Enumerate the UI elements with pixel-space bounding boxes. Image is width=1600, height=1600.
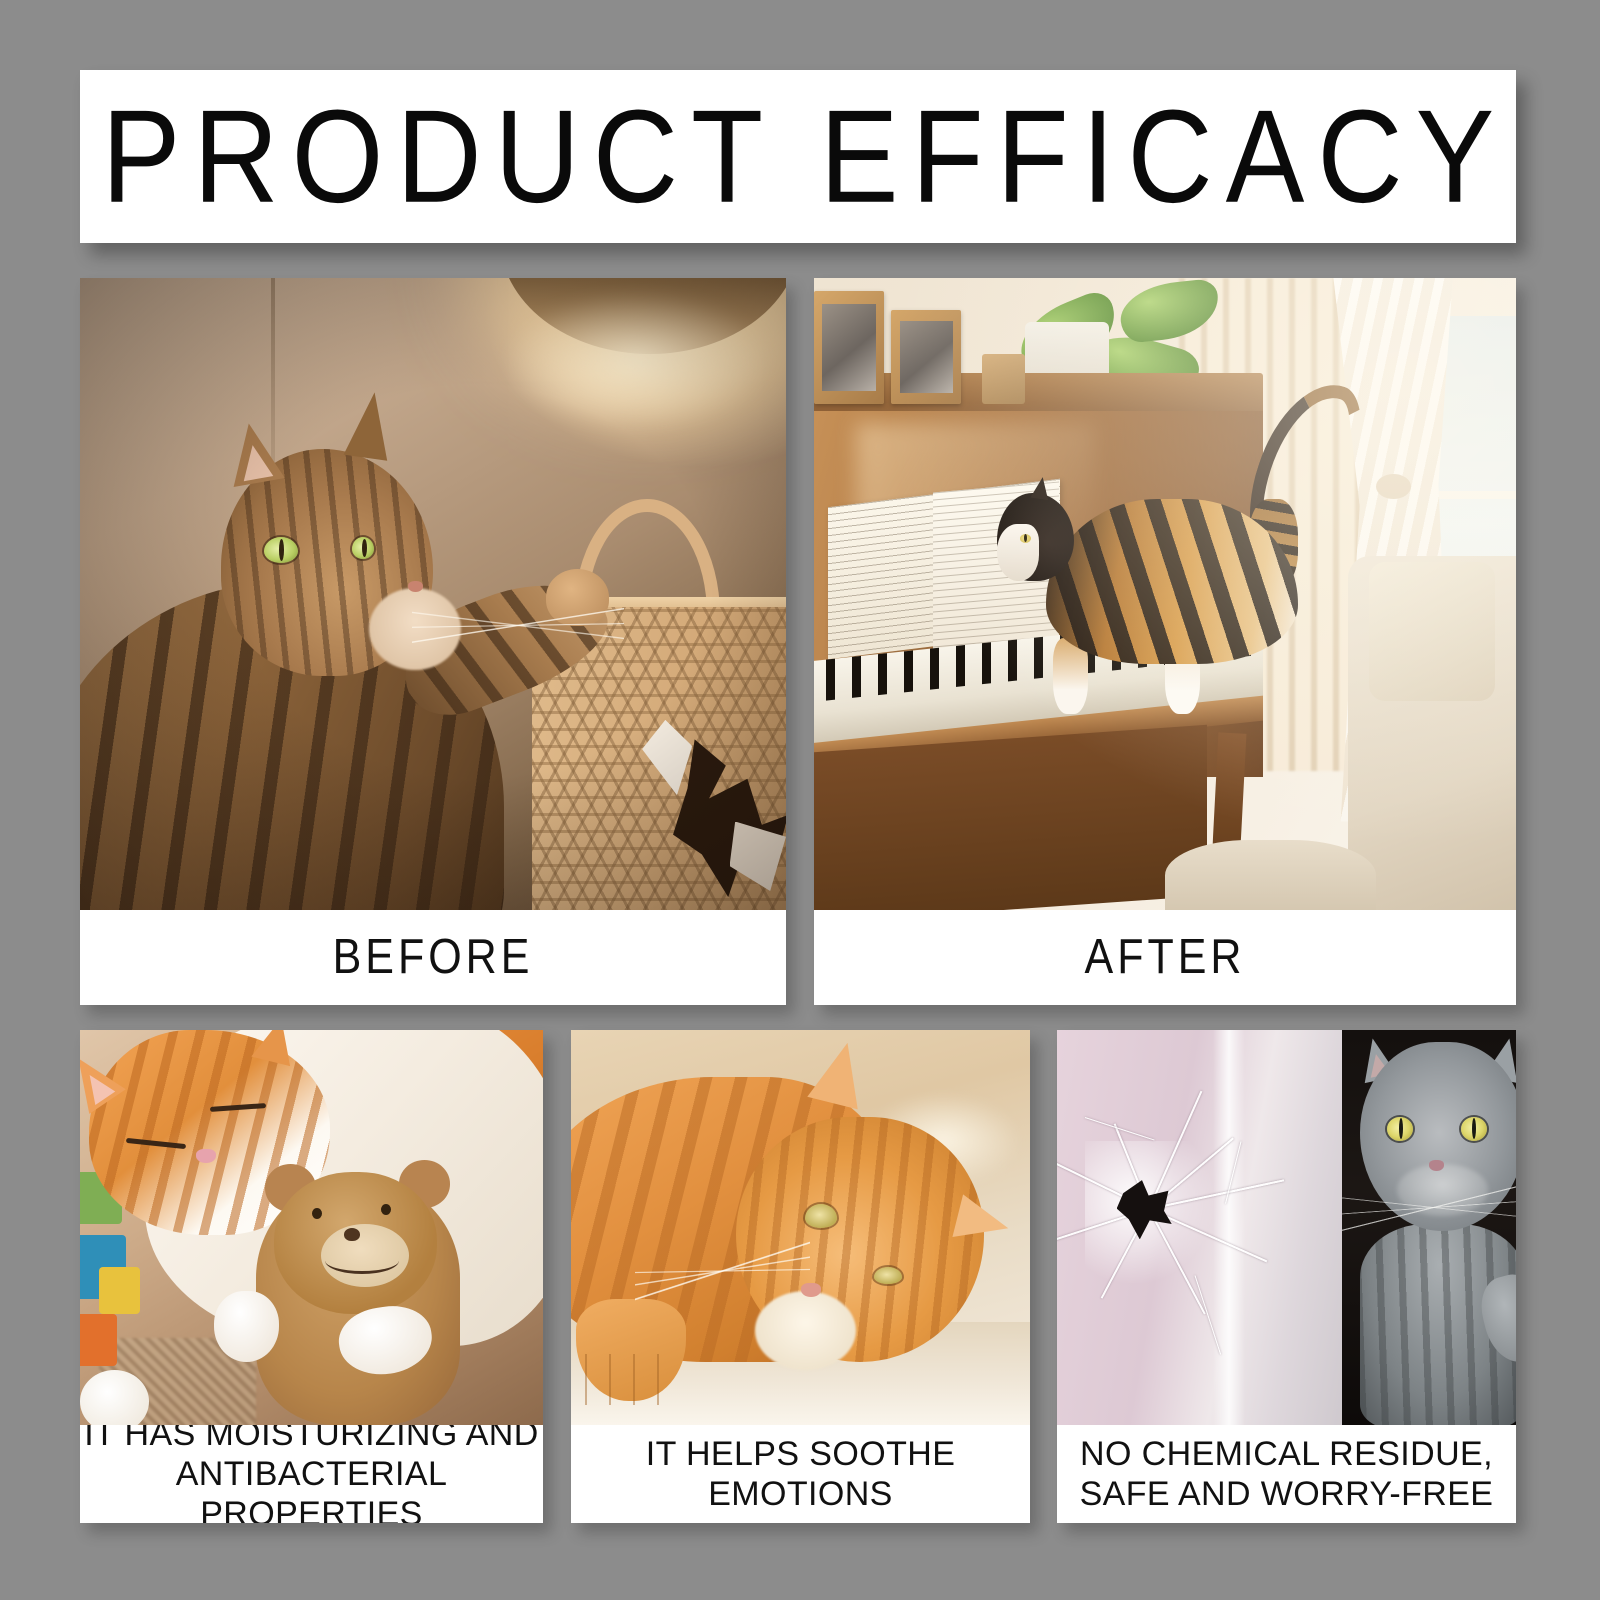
wall-light-streak	[1213, 1030, 1245, 1425]
scene-cracked-wall-and-gray-cat	[1057, 1030, 1516, 1425]
before-card: BEFORE	[80, 278, 786, 1005]
benefit-photo	[1057, 1030, 1516, 1425]
teddy-bear-nose-shape	[344, 1228, 360, 1241]
benefit-card-residue: NO CHEMICAL RESIDUE, SAFE AND WORRY-FREE	[1057, 1030, 1516, 1523]
benefit-caption: NO CHEMICAL RESIDUE, SAFE AND WORRY-FREE	[1057, 1425, 1516, 1523]
cat-eye-shape	[874, 1267, 902, 1284]
benefit-label: IT HAS MOISTURIZING AND ANTIBACTERIAL PR…	[80, 1414, 543, 1523]
benefit-label: NO CHEMICAL RESIDUE, SAFE AND WORRY-FREE	[1080, 1434, 1494, 1514]
scene-cat-clawing-basket	[80, 278, 786, 910]
after-caption: AFTER	[814, 910, 1516, 1005]
toy-block-shape	[80, 1314, 117, 1365]
cat-ear-shape	[808, 1036, 873, 1109]
benefit-label: IT HELPS SOOTHE EMOTIONS	[571, 1434, 1030, 1514]
cat-nose-shape	[196, 1149, 216, 1163]
benefit-card-moisturizing: IT HAS MOISTURIZING AND ANTIBACTERIAL PR…	[80, 1030, 543, 1523]
sunlight-wash	[814, 278, 1516, 910]
benefit-caption: IT HELPS SOOTHE EMOTIONS	[571, 1425, 1030, 1523]
scene-cat-on-piano	[814, 278, 1516, 910]
teddy-bear-eye-shape	[312, 1208, 322, 1219]
teddy-bear-eye-shape	[381, 1204, 391, 1215]
benefit-card-soothe: IT HELPS SOOTHE EMOTIONS	[571, 1030, 1030, 1523]
photo-vignette	[80, 278, 786, 910]
after-label: AFTER	[1085, 929, 1246, 987]
benefit-photo	[571, 1030, 1030, 1425]
cat-eye-shape	[805, 1204, 837, 1228]
scene-cat-hugging-teddy	[80, 1030, 543, 1425]
before-photo	[80, 278, 786, 910]
benefit-photo	[80, 1030, 543, 1425]
page-title: PRODUCT EFFICACY	[89, 90, 1508, 222]
before-caption: BEFORE	[80, 910, 786, 1005]
cat-whiskers-shape	[1342, 1164, 1516, 1251]
teddy-bear-mouth-shape	[325, 1247, 399, 1274]
cat-whiskers-shape	[635, 1212, 809, 1331]
cat-eye-shape	[1461, 1117, 1487, 1141]
before-label: BEFORE	[333, 929, 534, 987]
toy-block-shape	[99, 1267, 141, 1314]
after-card: AFTER	[814, 278, 1516, 1005]
cat-toes-shape	[585, 1354, 681, 1405]
cat-paw-shape	[214, 1291, 279, 1362]
benefit-caption: IT HAS MOISTURIZING AND ANTIBACTERIAL PR…	[80, 1425, 543, 1523]
after-photo	[814, 278, 1516, 910]
scene-relaxed-cat	[571, 1030, 1030, 1425]
header-bar: PRODUCT EFFICACY	[80, 70, 1516, 243]
